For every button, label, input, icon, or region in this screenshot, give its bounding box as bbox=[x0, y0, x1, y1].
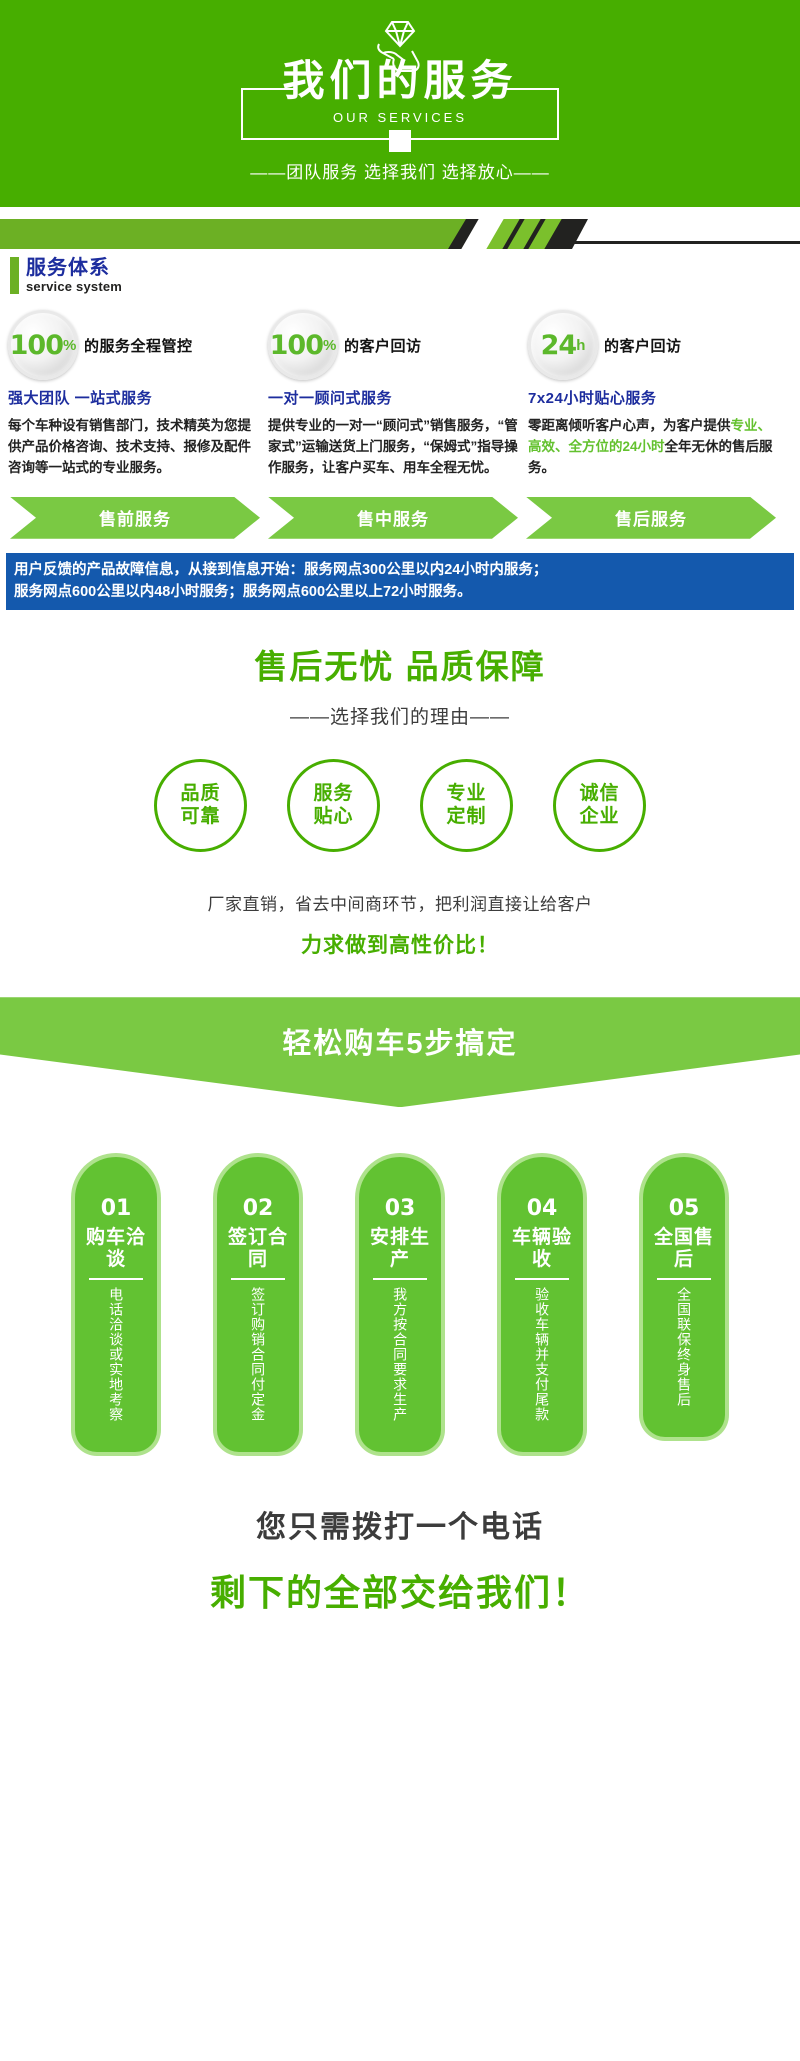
reason-badge-quality[interactable]: 品质可靠 bbox=[154, 759, 247, 852]
cta-line-2: 剩下的全部交给我们！ bbox=[0, 1564, 800, 1616]
white-tail-decoration bbox=[572, 219, 800, 249]
column-header: 100% 的客户回访 bbox=[268, 307, 518, 383]
column-header: 100% 的服务全程管控 bbox=[8, 307, 258, 383]
column-title: 一对一顾问式服务 bbox=[268, 387, 518, 408]
cta-line-1: 您只需拨打一个电话 bbox=[0, 1502, 800, 1546]
reason-badge-custom[interactable]: 专业定制 bbox=[420, 759, 513, 852]
stat-badge: 24h bbox=[528, 310, 598, 380]
arrow-label: 售中服务 bbox=[357, 505, 429, 530]
arrow-banner-aftersale[interactable]: 售后服务 bbox=[526, 497, 776, 539]
step-item-05[interactable]: 05 全国售后 全国联保终身售后 bbox=[622, 1153, 746, 1456]
reason-label: 专业定制 bbox=[446, 783, 486, 829]
step-foot bbox=[639, 1415, 729, 1441]
reason-badge-service[interactable]: 服务贴心 bbox=[287, 759, 380, 852]
step-body: 签订合同 签订购销合同付定金 bbox=[213, 1225, 303, 1430]
arrow-banner-presale[interactable]: 售前服务 bbox=[10, 497, 260, 539]
step-number: 05 bbox=[669, 1196, 700, 1221]
step-divider bbox=[89, 1278, 143, 1280]
step-cap: 02 bbox=[213, 1153, 303, 1225]
direct-sales-line-2: 力求做到高性价比！ bbox=[0, 929, 800, 959]
chevron-shape: 轻松购车5步搞定 bbox=[0, 997, 800, 1107]
step-number: 01 bbox=[101, 1196, 132, 1221]
step-cap: 03 bbox=[355, 1153, 445, 1225]
badge-number: 100 bbox=[10, 332, 63, 359]
step-title: 购车洽谈 bbox=[75, 1227, 157, 1271]
step-item-02[interactable]: 02 签订合同 签订购销合同付定金 bbox=[196, 1153, 320, 1456]
badge-number: 24 bbox=[541, 332, 577, 359]
step-description: 验收车辆并支付尾款 bbox=[533, 1287, 551, 1422]
policy-line-1: 用户反馈的产品故障信息，从接到信息开始：服务网点300公里以内24小时内服务； bbox=[14, 560, 786, 582]
hero-banner: 我们的服务 OUR SERVICES ——团队服务 选择我们 选择放心—— bbox=[0, 0, 800, 207]
step-number: 02 bbox=[243, 1196, 274, 1221]
arrow-label: 售后服务 bbox=[615, 505, 687, 530]
badge-number: 100 bbox=[270, 332, 323, 359]
purchase-steps: 01 购车洽谈 电话洽谈或实地考察 02 签订合同 签订购销合同付定金 03 安… bbox=[0, 1153, 800, 1456]
reason-label: 服务贴心 bbox=[313, 783, 353, 829]
service-system-label: 服务体系 service system bbox=[10, 257, 122, 294]
reason-badges: 品质可靠 服务贴心 专业定制 诚信企业 bbox=[0, 759, 800, 852]
service-columns: 100% 的服务全程管控 强大团队 一站式服务 每个车种设有销售部门，技术精英为… bbox=[0, 307, 800, 479]
step-title: 车辆验收 bbox=[501, 1227, 583, 1271]
step-foot bbox=[71, 1430, 161, 1456]
direct-sales-line-1: 厂家直销，省去中间商环节，把利润直接让给客户 bbox=[0, 890, 800, 915]
step-cap: 04 bbox=[497, 1153, 587, 1225]
column-body: 零距离倾听客户心声，为客户提供专业、高效、全方位的24小时全年无休的售后服务。 bbox=[528, 416, 778, 479]
step-divider bbox=[657, 1278, 711, 1280]
step-body: 车辆验收 验收车辆并支付尾款 bbox=[497, 1225, 587, 1430]
step-description: 我方按合同要求生产 bbox=[391, 1287, 409, 1422]
step-divider bbox=[231, 1278, 285, 1280]
badge-unit: h bbox=[576, 337, 585, 354]
step-description: 全国联保终身售后 bbox=[675, 1287, 693, 1407]
stat-badge: 100% bbox=[8, 310, 78, 380]
step-item-03[interactable]: 03 安排生产 我方按合同要求生产 bbox=[338, 1153, 462, 1456]
step-body: 全国售后 全国联保终身售后 bbox=[639, 1225, 729, 1415]
service-policy-strip: 用户反馈的产品故障信息，从接到信息开始：服务网点300公里以内24小时内服务； … bbox=[6, 553, 794, 611]
column-body: 提供专业的一对一“顾问式”销售服务，“管家式”运输送货上门服务，“保姆式”指导操… bbox=[268, 416, 518, 479]
column-title: 强大团队 一站式服务 bbox=[8, 387, 258, 408]
stat-badge: 100% bbox=[268, 310, 338, 380]
hero-tick-marker bbox=[389, 130, 411, 152]
step-description: 签订购销合同付定金 bbox=[249, 1287, 267, 1422]
badge-caption: 的客户回访 bbox=[344, 335, 422, 356]
hero-tagline: ——团队服务 选择我们 选择放心—— bbox=[250, 158, 549, 183]
label-accent-mark bbox=[10, 257, 19, 294]
column-body-pre: 零距离倾听客户心声，为客户提供 bbox=[528, 418, 731, 433]
service-column-3: 24h 的客户回访 7x24小时贴心服务 零距离倾听客户心声，为客户提供专业、高… bbox=[528, 307, 778, 479]
dark-rule-decoration bbox=[572, 241, 800, 244]
service-system-title-cn: 服务体系 bbox=[26, 257, 122, 279]
hero-subtitle-en: OUR SERVICES bbox=[333, 110, 467, 125]
step-foot bbox=[497, 1430, 587, 1456]
arrow-label: 售前服务 bbox=[99, 505, 171, 530]
column-body: 每个车种设有销售部门，技术精英为您提供产品价格咨询、技术支持、报修及配件咨询等一… bbox=[8, 416, 258, 479]
badge-caption: 的服务全程管控 bbox=[84, 335, 193, 356]
step-cap: 01 bbox=[71, 1153, 161, 1225]
reason-badge-integrity[interactable]: 诚信企业 bbox=[553, 759, 646, 852]
stripe-decoration bbox=[495, 219, 553, 249]
after-sales-subhead: ——选择我们的理由—— bbox=[0, 702, 800, 729]
step-body: 购车洽谈 电话洽谈或实地考察 bbox=[71, 1225, 161, 1430]
service-system-title-en: service system bbox=[26, 279, 122, 294]
arrow-banner-insale[interactable]: 售中服务 bbox=[268, 497, 518, 539]
step-item-01[interactable]: 01 购车洽谈 电话洽谈或实地考察 bbox=[54, 1153, 178, 1456]
step-title: 全国售后 bbox=[643, 1227, 725, 1271]
chevron-label: 轻松购车5步搞定 bbox=[282, 1020, 517, 1062]
step-cap: 05 bbox=[639, 1153, 729, 1225]
policy-line-2: 服务网点600公里以内48小时服务；服务网点600公里以上72小时服务。 bbox=[14, 582, 786, 604]
step-number: 03 bbox=[385, 1196, 416, 1221]
step-foot bbox=[213, 1430, 303, 1456]
service-phase-arrows: 售前服务 售中服务 售后服务 bbox=[0, 479, 800, 539]
after-sales-headline: 售后无忧 品质保障 bbox=[0, 640, 800, 688]
service-column-1: 100% 的服务全程管控 强大团队 一站式服务 每个车种设有销售部门，技术精英为… bbox=[8, 307, 258, 479]
step-title: 安排生产 bbox=[359, 1227, 441, 1271]
step-body: 安排生产 我方按合同要求生产 bbox=[355, 1225, 445, 1430]
reason-label: 诚信企业 bbox=[579, 783, 619, 829]
page-title: 我们的服务 bbox=[282, 60, 517, 102]
badge-caption: 的客户回访 bbox=[604, 335, 682, 356]
green-bar-decoration bbox=[0, 219, 460, 249]
step-title: 签订合同 bbox=[217, 1227, 299, 1271]
step-foot bbox=[355, 1430, 445, 1456]
step-divider bbox=[373, 1278, 427, 1280]
badge-unit: % bbox=[323, 337, 336, 354]
step-number: 04 bbox=[527, 1196, 558, 1221]
step-divider bbox=[515, 1278, 569, 1280]
service-system-band: 服务体系 service system bbox=[0, 207, 800, 307]
purchase-steps-banner: 轻松购车5步搞定 bbox=[0, 997, 800, 1117]
reason-label: 品质可靠 bbox=[180, 783, 220, 829]
column-title: 7x24小时贴心服务 bbox=[528, 387, 778, 408]
step-item-04[interactable]: 04 车辆验收 验收车辆并支付尾款 bbox=[480, 1153, 604, 1456]
service-column-2: 100% 的客户回访 一对一顾问式服务 提供专业的一对一“顾问式”销售服务，“管… bbox=[268, 307, 518, 479]
column-header: 24h 的客户回访 bbox=[528, 307, 778, 383]
badge-unit: % bbox=[63, 337, 76, 354]
step-description: 电话洽谈或实地考察 bbox=[107, 1287, 125, 1422]
